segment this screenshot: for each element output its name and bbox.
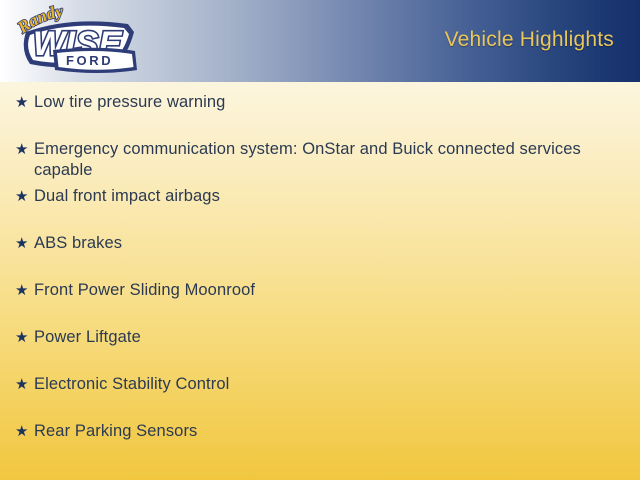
highlight-label: Front Power Sliding Moonroof	[34, 278, 594, 301]
highlight-label: Rear Parking Sensors	[34, 419, 594, 442]
logo-ford-text: FORD	[66, 53, 113, 68]
list-item: ★ ABS brakes	[10, 231, 624, 278]
star-bullet-icon: ★	[12, 231, 34, 257]
highlight-label: Power Liftgate	[34, 325, 594, 348]
highlight-label: ABS brakes	[34, 231, 594, 254]
page-header: WISE FORD Randy Vehicle Highlights	[0, 0, 640, 82]
list-item: ★ Low tire pressure warning	[10, 90, 624, 137]
logo-artwork: WISE FORD Randy	[6, 2, 146, 80]
page-title: Vehicle Highlights	[445, 28, 614, 52]
vehicle-highlights-list: ★ Low tire pressure warning ★ Emergency …	[0, 82, 640, 480]
list-item: ★ Front Power Sliding Moonroof	[10, 278, 624, 325]
star-bullet-icon: ★	[12, 278, 34, 304]
star-bullet-icon: ★	[12, 372, 34, 398]
highlight-label: Electronic Stability Control	[34, 372, 594, 395]
star-bullet-icon: ★	[12, 137, 34, 163]
list-item: ★ Electronic Stability Control	[10, 372, 624, 419]
highlight-label: Emergency communication system: OnStar a…	[34, 137, 594, 181]
star-bullet-icon: ★	[12, 184, 34, 210]
star-bullet-icon: ★	[12, 419, 34, 445]
randy-wise-ford-logo[interactable]: WISE FORD Randy	[6, 2, 146, 80]
highlight-label: Low tire pressure warning	[34, 90, 594, 113]
list-item: ★ Power Liftgate	[10, 325, 624, 372]
star-bullet-icon: ★	[12, 325, 34, 351]
list-item: ★ Dual front impact airbags	[10, 184, 624, 231]
highlight-label: Dual front impact airbags	[34, 184, 594, 207]
star-bullet-icon: ★	[12, 90, 34, 116]
vehicle-highlights-page: WISE FORD Randy Vehicle Highlights ★ Low…	[0, 0, 640, 480]
list-item: ★ Rear Parking Sensors	[10, 419, 624, 466]
list-item: ★ Emergency communication system: OnStar…	[10, 137, 624, 184]
